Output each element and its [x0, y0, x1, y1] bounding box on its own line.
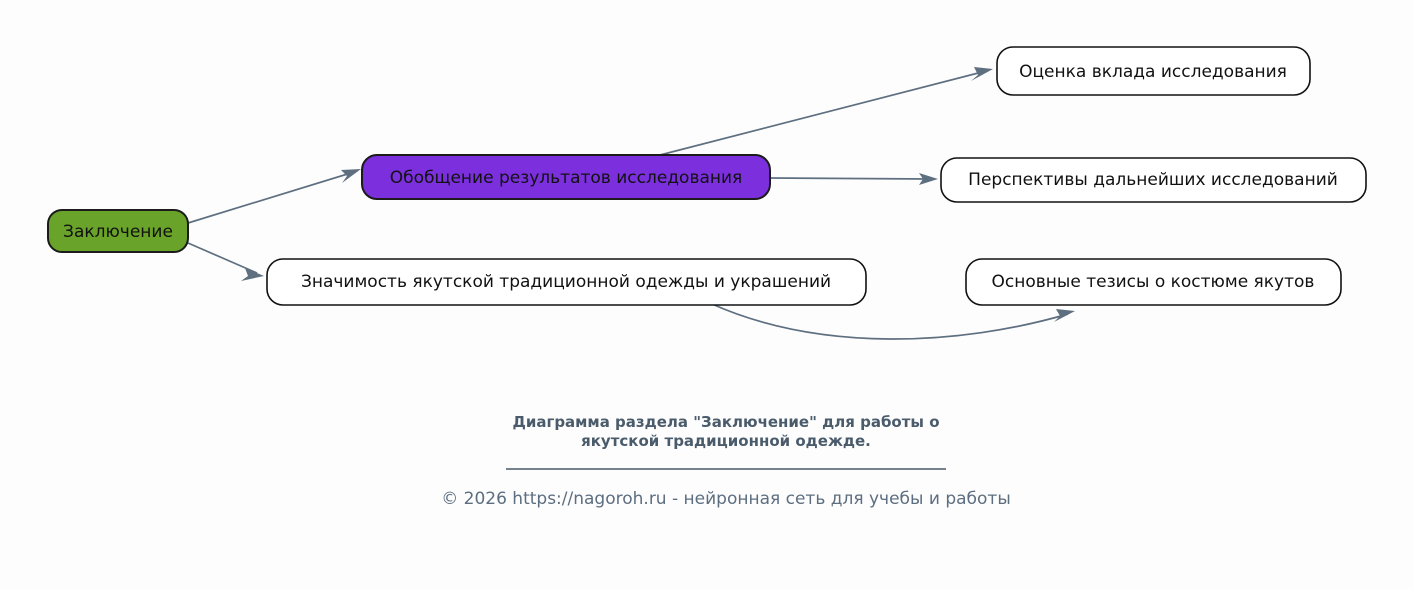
caption-line-2: якутской традиционной одежде. [581, 432, 871, 450]
node-summary-label: Обобщение результатов исследования [390, 168, 743, 188]
edge-summary-to-contribution [660, 71, 986, 155]
arrowhead-root-to-significance [241, 268, 264, 281]
node-contribution-label: Оценка вклада исследования [1019, 62, 1287, 82]
footer-credit: © 2026 https://nagoroh.ru - нейронная се… [441, 489, 1011, 509]
node-significance[interactable]: Значимость якутской традиционной одежды … [267, 259, 866, 305]
mindmap-diagram: Заключение Обобщение результатов исследо… [0, 0, 1413, 589]
node-root-label: Заключение [63, 222, 173, 242]
arrowhead-significance-to-theses [1054, 309, 1075, 322]
arrowhead-root-to-summary [341, 169, 361, 183]
edge-summary-to-prospects [770, 178, 931, 179]
node-prospects[interactable]: Перспективы дальнейших исследований [941, 158, 1366, 202]
edge-significance-to-theses [712, 304, 1068, 339]
mindmap-canvas: Заключение Обобщение результатов исследо… [0, 0, 1413, 589]
node-theses-label: Основные тезисы о костюме якутов [992, 272, 1315, 292]
node-summary[interactable]: Обобщение результатов исследования [362, 155, 770, 199]
node-contribution[interactable]: Оценка вклада исследования [997, 47, 1310, 95]
edge-root-to-significance [188, 243, 257, 273]
node-theses[interactable]: Основные тезисы о костюме якутов [966, 259, 1341, 305]
node-prospects-label: Перспективы дальнейших исследований [968, 170, 1338, 190]
edge-root-to-summary [188, 172, 354, 223]
node-root[interactable]: Заключение [48, 210, 188, 252]
node-significance-label: Значимость якутской традиционной одежды … [301, 272, 831, 292]
caption-line-1: Диаграмма раздела "Заключение" для работ… [512, 413, 939, 431]
